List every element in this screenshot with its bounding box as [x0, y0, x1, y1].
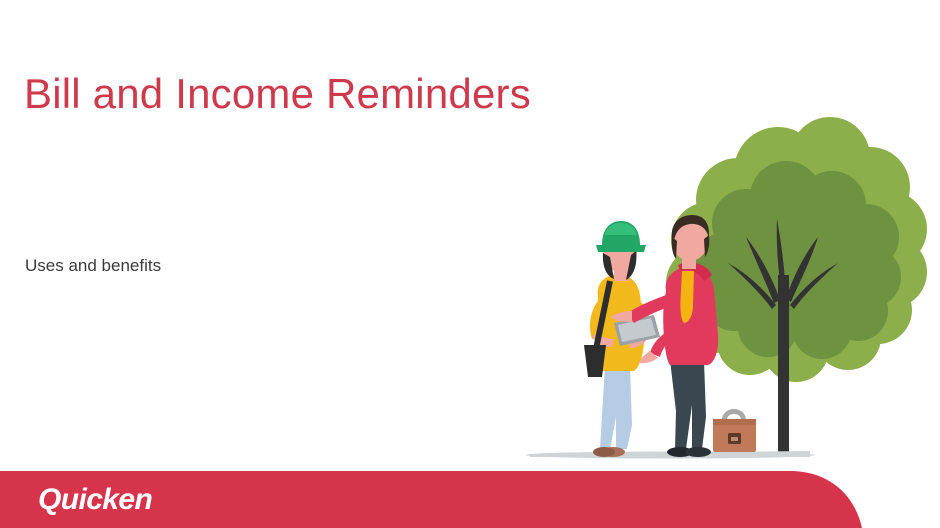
woman-shoe-right	[593, 447, 615, 457]
woman-hat	[596, 221, 646, 252]
briefcase-icon	[713, 409, 756, 452]
briefcase-handle	[722, 409, 746, 420]
woman-jeans	[600, 367, 632, 449]
hero-illustration	[510, 105, 930, 465]
man-shoe-right	[685, 447, 711, 457]
slide-subtitle: Uses and benefits	[25, 256, 161, 276]
presentation-slide: Bill and Income Reminders Uses and benef…	[0, 0, 940, 528]
tree-trunk	[778, 275, 789, 455]
brand-logo: Quicken	[38, 483, 152, 517]
woman-bag	[584, 345, 606, 377]
man-pants	[670, 360, 706, 449]
page-title: Bill and Income Reminders	[24, 70, 531, 118]
woman-figure	[584, 221, 660, 457]
